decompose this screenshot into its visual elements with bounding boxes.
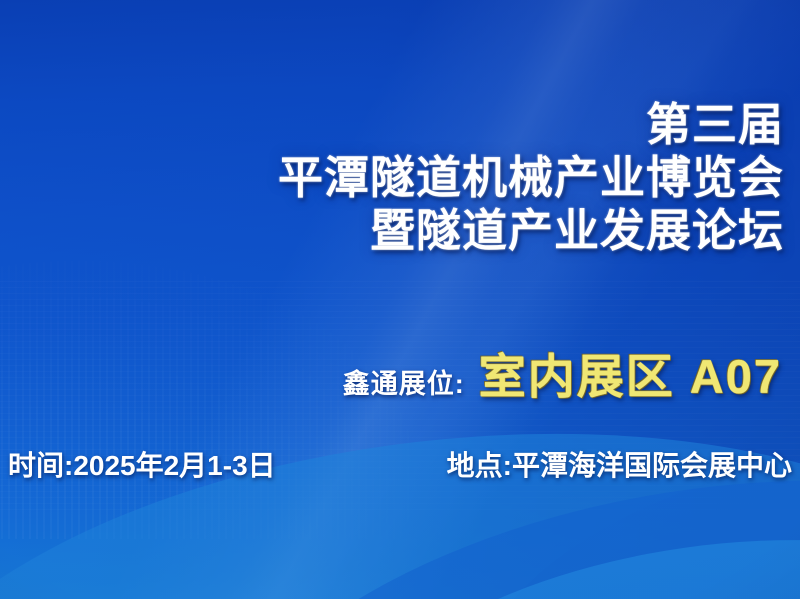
event-title-line-forum: 暨隧道产业发展论坛 [24, 208, 784, 253]
booth-number: 室内展区 A07 [479, 338, 782, 407]
event-title: 第三届 平潭隧道机械产业博览会 暨隧道产业发展论坛 [24, 102, 784, 253]
event-meta: 时间:2025年2月1-3日 地点:平潭海洋国际会展中心 [8, 444, 792, 484]
event-venue: 地点:平潭海洋国际会展中心 [447, 444, 792, 484]
booth-label: 鑫通展位: [343, 362, 465, 401]
event-date: 时间:2025年2月1-3日 [8, 444, 276, 484]
exhibition-poster: 第三届 平潭隧道机械产业博览会 暨隧道产业发展论坛 鑫通展位: 室内展区 A07… [0, 0, 800, 599]
booth-info: 鑫通展位: 室内展区 A07 [343, 338, 782, 407]
poster-content: 第三届 平潭隧道机械产业博览会 暨隧道产业发展论坛 鑫通展位: 室内展区 A07… [0, 0, 800, 599]
event-title-line-expo: 平潭隧道机械产业博览会 [24, 155, 784, 200]
event-title-line-edition: 第三届 [24, 102, 784, 147]
